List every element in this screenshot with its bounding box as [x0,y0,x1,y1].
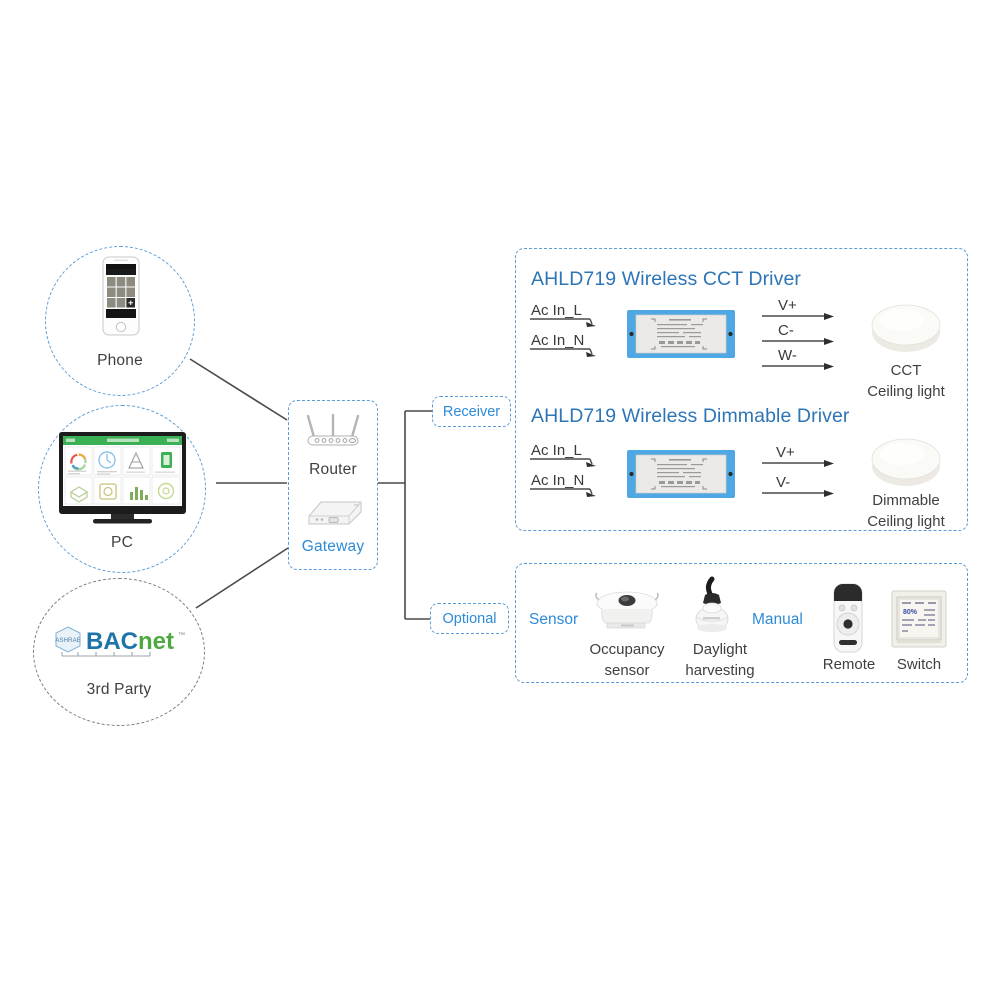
dimmable-ceiling-light-icon [866,432,946,494]
cct-output-label-1: V+ [778,297,797,314]
cct-input-signals: Ac In_L Ac In_N [528,300,620,358]
dimmable-input-signals: Ac In_L Ac In_N [528,440,620,498]
optional-branch-tag[interactable]: Optional [430,603,509,634]
cct-ceiling-light-icon [866,298,946,360]
cct-input-label-1: Ac In_L [531,302,582,319]
phone-node-label: Phone [45,352,195,370]
cct-load-caption-1: CCT [856,361,956,380]
cct-input-label-2: Ac In_N [531,332,584,349]
gateway-box-icon [299,490,367,532]
dimmable-input-label-2: Ac In_N [531,472,584,489]
svg-text:ASHRAE: ASHRAE [55,637,80,644]
cct-driver-title: AHLD719 Wireless CCT Driver [531,268,801,291]
daylight-caption-1: Daylight [665,640,775,659]
dimmable-led-driver-module-icon [627,450,735,498]
occupancy-caption-2: sensor [577,661,677,680]
remote-control-icon [828,582,868,654]
gateway-label: Gateway [288,538,378,556]
bacnet-logo-icon: ASHRAE BACnet ™ [52,625,186,659]
desktop-monitor-icon [55,430,190,525]
dimmable-output-label-2: V- [776,474,790,491]
svg-text:BACnet: BACnet [86,628,174,655]
dimmable-output-signals: V+ V- [762,443,852,495]
svg-text:80%: 80% [903,609,918,616]
svg-text:™: ™ [178,632,185,639]
dimmable-load-caption-1: Dimmable [846,491,966,510]
occupancy-sensor-icon [583,583,671,635]
third-party-node-label: 3rd Party [33,681,205,699]
dimmable-output-label-1: V+ [776,444,795,461]
switch-caption: Switch [878,655,960,674]
receiver-branch-tag-label: Receiver [443,404,500,420]
cct-led-driver-module-icon [627,310,735,358]
receiver-branch-tag[interactable]: Receiver [432,396,511,427]
router-label: Router [288,461,378,479]
cct-output-label-3: W- [778,347,797,364]
dimmable-load-caption-2: Ceiling light [846,512,966,531]
cct-output-label-2: C- [778,322,794,339]
dimmable-input-label-1: Ac In_L [531,442,582,459]
occupancy-caption-1: Occupancy [577,640,677,659]
manual-group-label: Manual [752,611,803,629]
daylight-caption-2: harvesting [665,661,775,680]
wall-switch-panel-icon: 80% [891,590,947,648]
daylight-sensor-icon [685,575,739,637]
wifi-router-icon [300,412,366,450]
optional-branch-tag-label: Optional [442,611,496,627]
sensor-group-label: Sensor [529,611,578,629]
cct-output-signals: V+ C- W- [762,296,852,368]
smartphone-icon [101,256,141,336]
cct-load-caption-2: Ceiling light [846,382,966,401]
pc-node-label: PC [38,534,206,552]
system-architecture-diagram: Phone [0,0,1000,1000]
dimmable-driver-title: AHLD719 Wireless Dimmable Driver [531,405,850,428]
